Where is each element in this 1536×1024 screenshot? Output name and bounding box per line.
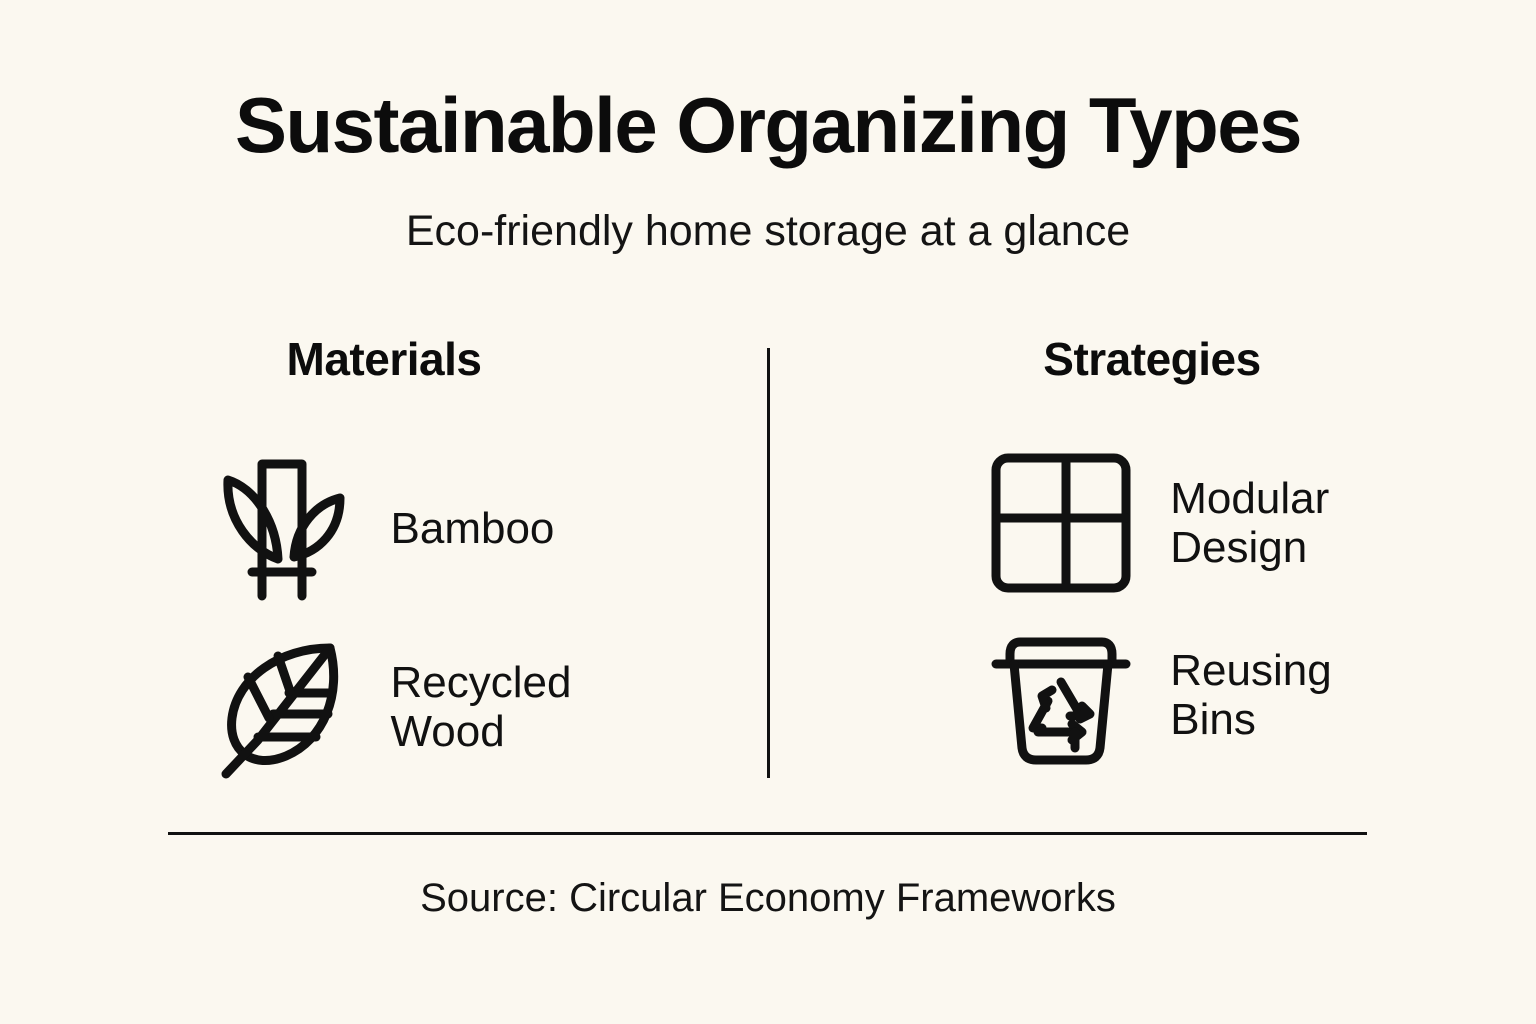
bamboo-icon [207,448,357,610]
column-strategies: Strategies Modular Design [768,336,1536,796]
column-heading-strategies: Strategies [1043,336,1260,382]
column-divider [767,348,770,778]
list-item-label: Modular Design [1170,474,1329,573]
strategies-list: Modular Design [986,448,1331,770]
list-item[interactable]: Reusing Bins [986,620,1331,770]
list-item[interactable]: Modular Design [986,448,1331,598]
page-title: Sustainable Organizing Types [0,86,1536,164]
list-item-label: Recycled Wood [391,658,572,757]
materials-list: Bamboo [207,448,572,782]
list-item-label: Bamboo [391,504,555,553]
footer-rule [168,832,1367,835]
header: Sustainable Organizing Types Eco-friendl… [0,86,1536,253]
page-subtitle: Eco-friendly home storage at a glance [0,210,1536,253]
source-note: Source: Circular Economy Frameworks [0,878,1536,918]
recycle-bin-icon [986,620,1136,770]
grid-2x2-icon [986,448,1136,598]
infographic-poster: Sustainable Organizing Types Eco-friendl… [0,0,1536,1024]
leaf-icon [207,632,357,782]
column-materials: Materials [0,336,768,796]
column-heading-materials: Materials [287,336,482,382]
list-item[interactable]: Recycled Wood [207,632,572,782]
list-item[interactable]: Bamboo [207,448,572,610]
list-item-label: Reusing Bins [1170,646,1331,745]
